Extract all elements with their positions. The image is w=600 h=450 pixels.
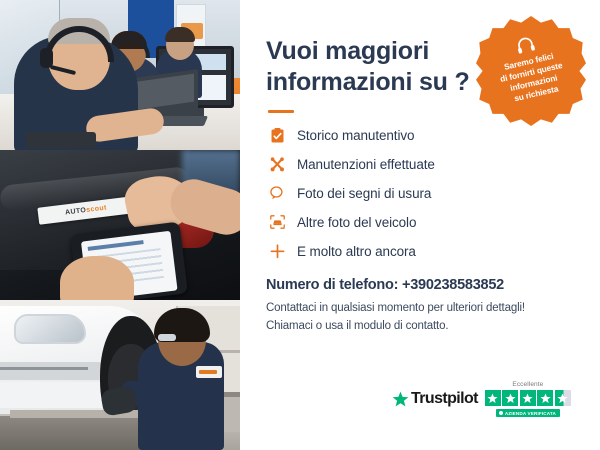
trustpilot-wordmark: Trustpilot bbox=[411, 390, 478, 408]
photo-mechanic-inspecting-wheel bbox=[0, 300, 240, 450]
content-panel: Vuoi maggiori informazioni su ? Storico … bbox=[240, 0, 600, 450]
page-title-line-2: informazioni su ? bbox=[266, 68, 470, 96]
clipboard-check-icon bbox=[266, 125, 288, 145]
trustpilot-logo: Trustpilot bbox=[392, 390, 478, 408]
feature-list: Storico manutentivo Manutenzioni effettu… bbox=[266, 125, 574, 261]
verified-check-icon bbox=[499, 411, 503, 415]
photo-column: AUTOscout bbox=[0, 0, 240, 450]
trustpilot-rating-label: Eccellente bbox=[512, 381, 543, 388]
star-filled bbox=[485, 390, 501, 406]
list-item: Manutenzioni effettuate bbox=[266, 154, 574, 174]
contact-info-banner: AUTOscout bbox=[0, 0, 600, 450]
tools-wrench-screwdriver-icon bbox=[266, 154, 288, 174]
trustpilot-rating[interactable]: Trustpilot Eccellente bbox=[392, 381, 571, 417]
phone-number[interactable]: +390238583852 bbox=[402, 277, 504, 293]
headset-icon bbox=[514, 35, 536, 56]
badge-content: Saremo felici di fornirti queste informa… bbox=[465, 5, 597, 137]
badge-text: Saremo felici di fornirti queste informa… bbox=[486, 47, 580, 109]
contact-line-2: Chiamaci o usa il modulo di contatto. bbox=[266, 318, 574, 336]
list-item-label: E molto altro ancora bbox=[297, 244, 416, 259]
list-item-label: Manutenzioni effettuate bbox=[297, 157, 435, 172]
star-half bbox=[555, 390, 571, 406]
grille-decor bbox=[0, 362, 102, 380]
list-item: Foto dei segni di usura bbox=[266, 183, 574, 203]
title-divider bbox=[268, 110, 294, 113]
uniform-logo-decor bbox=[196, 366, 222, 378]
contact-instructions: Contattaci in qualsiasi momento per ulte… bbox=[266, 300, 574, 336]
headlight-decor bbox=[14, 314, 86, 344]
plus-icon bbox=[266, 241, 288, 261]
star-filled bbox=[502, 390, 518, 406]
desk-tablet-decor bbox=[26, 132, 96, 148]
callout-badge: Saremo felici di fornirti queste informa… bbox=[476, 16, 586, 126]
phone-label: Numero di telefono: bbox=[266, 277, 398, 293]
trustpilot-star-icon bbox=[392, 391, 409, 408]
photo-car-inspection-with-tablet: AUTOscout bbox=[0, 150, 240, 300]
list-item-label: Altre foto del veicolo bbox=[297, 215, 416, 230]
status-badge: AZIENDA VERIFICATA bbox=[496, 409, 560, 417]
list-item-label: Foto dei segni di usura bbox=[297, 186, 431, 201]
trustpilot-stars bbox=[485, 390, 571, 406]
star-filled bbox=[537, 390, 553, 406]
sticker-text-primary: AUTO bbox=[65, 207, 87, 217]
list-item: E molto altro ancora bbox=[266, 241, 574, 261]
agent-hair-3 bbox=[165, 27, 195, 42]
trustpilot-score-block: Eccellente bbox=[485, 381, 571, 417]
hand-holding-tablet-decor bbox=[60, 256, 134, 300]
car-frame-icon bbox=[266, 212, 288, 232]
page-title-line-1: Vuoi maggiori bbox=[266, 37, 429, 65]
contact-line-1: Contattaci in qualsiasi momento per ulte… bbox=[266, 300, 574, 318]
photo-call-center-agents-with-headsets bbox=[0, 0, 240, 150]
sticker-text-secondary: scout bbox=[86, 204, 107, 213]
star-filled bbox=[520, 390, 536, 406]
verified-label: AZIENDA VERIFICATA bbox=[505, 411, 556, 416]
magnifier-icon bbox=[266, 183, 288, 203]
list-item-label: Storico manutentivo bbox=[297, 128, 414, 143]
page-title: Vuoi maggiori informazioni su ? bbox=[266, 36, 481, 98]
list-item: Altre foto del veicolo bbox=[266, 212, 574, 232]
mechanic-glasses-decor bbox=[158, 334, 176, 341]
phone-number-line: Numero di telefono: +390238583852 bbox=[266, 277, 574, 293]
